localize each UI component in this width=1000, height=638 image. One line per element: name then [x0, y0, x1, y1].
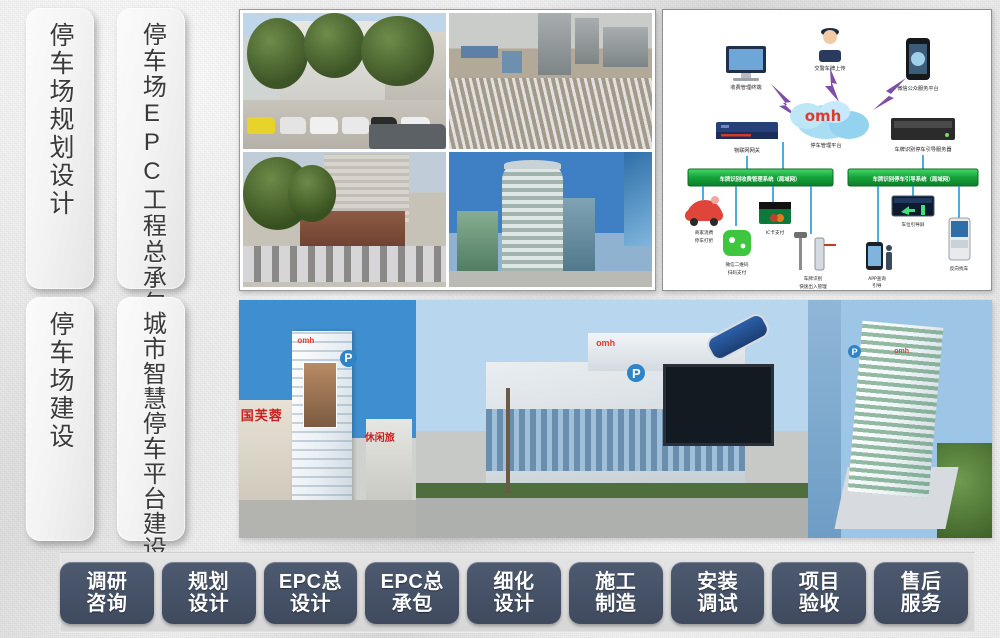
sidebar-card-label: 停车场建设 — [44, 311, 76, 451]
node-label-traffic-police-upload: 交警车牌上传 — [814, 64, 845, 72]
photo-aerial-parking — [449, 13, 652, 149]
render-sign-right: 休闲旅 — [365, 429, 395, 444]
photo-office-tower — [449, 152, 652, 288]
cloud-label: 停车管理平台 — [810, 141, 841, 149]
leaf-label-app-query-1: APP查询 — [868, 275, 886, 282]
photo-surface-lot-trees — [243, 13, 446, 149]
svg-text:omh: omh — [805, 107, 842, 125]
process-step-bar: 调研 咨询 规划 设计 EPC总 设计 EPC总 承包 细化 设计 施工 制造 … — [60, 560, 968, 626]
process-step-planning-design[interactable]: 规划 设计 — [162, 562, 256, 624]
process-step-construction-mfg[interactable]: 施工 制造 — [569, 562, 663, 624]
sidebar-card-label: 停车场EPC工程总承包 — [136, 22, 167, 317]
render-garage-facade: omh P — [416, 300, 808, 538]
node-label-plate-guidance-server: 车牌识别停车引导服务器 — [894, 145, 952, 153]
process-step-detailed-design[interactable]: 细化 设计 — [467, 562, 561, 624]
render-logo-omh: omh — [894, 348, 909, 355]
render-aerial-tower: P omh — [808, 300, 992, 538]
system-architecture-diagram: omh 停车管理平台 收费管理终端 交警车牌上传 — [662, 9, 992, 291]
leaf-label-app-query-2: 引导 — [872, 282, 882, 289]
leaf-label-reverse-car-finding: 反向找车 — [950, 265, 969, 272]
page-background: 停车场规划设计 停车场EPC工程总承包 停车场建设 城市智慧停车平台建设 — [0, 0, 1000, 638]
sidebar-card-parking-epc-contract[interactable]: 停车场EPC工程总承包 — [117, 8, 185, 289]
node-label-wechat-public-platform: 微信公众服务平台 — [897, 84, 939, 92]
process-step-survey-consult[interactable]: 调研 咨询 — [60, 562, 154, 624]
photo-grid-panel — [239, 9, 656, 291]
architectural-render-strip: omh P 国芙蓉 休闲旅 omh P P omh — [239, 300, 992, 538]
sidebar-card-label: 城市智慧停车平台建设 — [136, 311, 167, 561]
leaf-label-merchant-discount-1: 商家消费 — [695, 229, 714, 236]
sidebar-card-label: 停车场规划设计 — [44, 22, 76, 218]
process-step-epc-design[interactable]: EPC总 设计 — [264, 562, 358, 624]
parking-badge-icon: P — [340, 350, 357, 367]
node-label-fee-management-terminal: 收费管理终端 — [730, 83, 761, 91]
leaf-label-plate-fast-entry-1: 车牌识别 — [804, 275, 823, 282]
sidebar-card-smart-parking-platform[interactable]: 城市智慧停车平台建设 — [117, 297, 185, 541]
leaf-label-plate-fast-entry-2: 快速出入管理 — [799, 283, 827, 290]
sidebar-card-parking-planning-design[interactable]: 停车场规划设计 — [26, 8, 94, 289]
node-label-iot-gateway: 物联网网关 — [734, 146, 760, 154]
process-step-install-debug[interactable]: 安装 调试 — [671, 562, 765, 624]
green-bar-label-plate-guidance-system: 车牌识别停车引导系统（局域网） — [873, 175, 954, 183]
leaf-label-space-guidance-screen: 车位引导屏 — [902, 221, 925, 228]
green-bar-label-plate-fee-system: 车牌识别收费管理系统（局域网） — [720, 175, 801, 183]
leaf-label-ic-card-pay: IC卡支付 — [766, 229, 785, 236]
render-logo-omh: omh — [297, 336, 314, 345]
photo-lot-brick-building — [243, 152, 446, 288]
render-tower-parking: omh P 国芙蓉 休闲旅 — [239, 300, 416, 538]
leaf-label-wechat-qr-2: 扫码支付 — [728, 269, 747, 276]
process-step-project-acceptance[interactable]: 项目 验收 — [772, 562, 866, 624]
render-sign-left: 国芙蓉 — [241, 405, 283, 424]
render-logo-omh: omh — [596, 338, 615, 348]
process-step-after-sales[interactable]: 售后 服务 — [874, 562, 968, 624]
leaf-label-wechat-qr-1: 微信二维码 — [726, 261, 749, 268]
process-step-epc-contract[interactable]: EPC总 承包 — [365, 562, 459, 624]
sidebar-card-parking-construction[interactable]: 停车场建设 — [26, 297, 94, 541]
leaf-label-merchant-discount-2: 停车打折 — [695, 237, 714, 244]
